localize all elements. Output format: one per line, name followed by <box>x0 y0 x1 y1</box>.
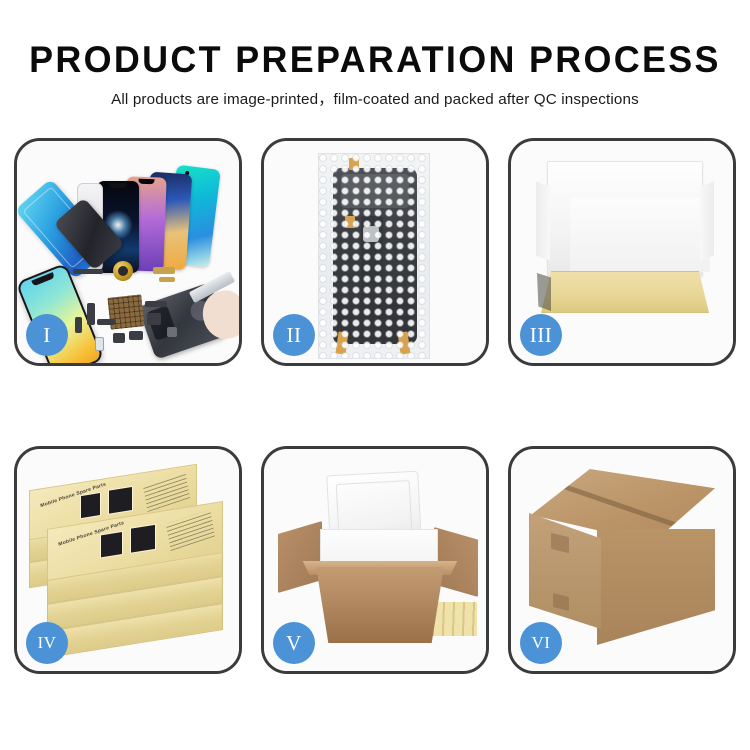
step-badge-1: I <box>26 314 68 356</box>
spare-part <box>75 317 82 333</box>
bubble-wrap-bag <box>318 153 430 359</box>
notch-icon <box>31 272 55 286</box>
box-lid-flap <box>547 161 703 277</box>
carton-front-face <box>304 567 456 643</box>
panel-step-3: III <box>508 138 736 366</box>
spare-part <box>129 331 143 340</box>
spare-part <box>147 313 161 325</box>
carton-tape-seam <box>560 483 694 533</box>
spare-part <box>159 277 175 282</box>
spare-part <box>95 337 104 351</box>
notch-icon <box>110 183 127 188</box>
carton-flap-left <box>278 521 322 593</box>
panel-step-1: I <box>14 138 242 366</box>
speaker-part <box>113 261 133 281</box>
spare-part <box>145 301 167 307</box>
panel-step-5: V <box>261 446 489 674</box>
carton-front-face <box>529 513 601 629</box>
step-badge-2: II <box>273 314 315 356</box>
panel-step-6: VI <box>508 446 736 674</box>
spare-part <box>97 319 115 325</box>
process-step-grid: I II <box>14 138 736 674</box>
spare-part <box>113 333 125 343</box>
box-base-front <box>541 271 709 313</box>
header: PRODUCT PREPARATION PROCESS All products… <box>0 0 750 107</box>
step-badge-6: VI <box>520 622 562 664</box>
page-title: PRODUCT PREPARATION PROCESS <box>11 41 739 78</box>
page-subtitle: All products are image-printed，film-coat… <box>0 92 750 107</box>
spare-part <box>167 327 177 337</box>
carton-side-face <box>597 529 715 645</box>
spare-part <box>153 267 175 274</box>
notch-icon <box>138 179 154 185</box>
bubble-texture <box>319 154 429 358</box>
step-badge-5: V <box>273 622 315 664</box>
spare-part <box>87 303 95 325</box>
open-inner-box <box>533 157 717 337</box>
box-window <box>130 524 156 554</box>
foam-sheet <box>570 198 710 272</box>
infographic-page: PRODUCT PREPARATION PROCESS All products… <box>0 0 750 750</box>
box-window <box>80 492 102 518</box>
panel-step-4: Mobile Phone Spare Parts Mobile Phone Sp… <box>14 446 242 674</box>
box-window <box>108 485 133 514</box>
spare-part <box>73 269 103 274</box>
box-window <box>100 531 123 559</box>
box-base-shadow <box>537 273 551 311</box>
step-badge-3: III <box>520 314 562 356</box>
step-badge-4: IV <box>26 622 68 664</box>
panel-step-2: II <box>261 138 489 366</box>
